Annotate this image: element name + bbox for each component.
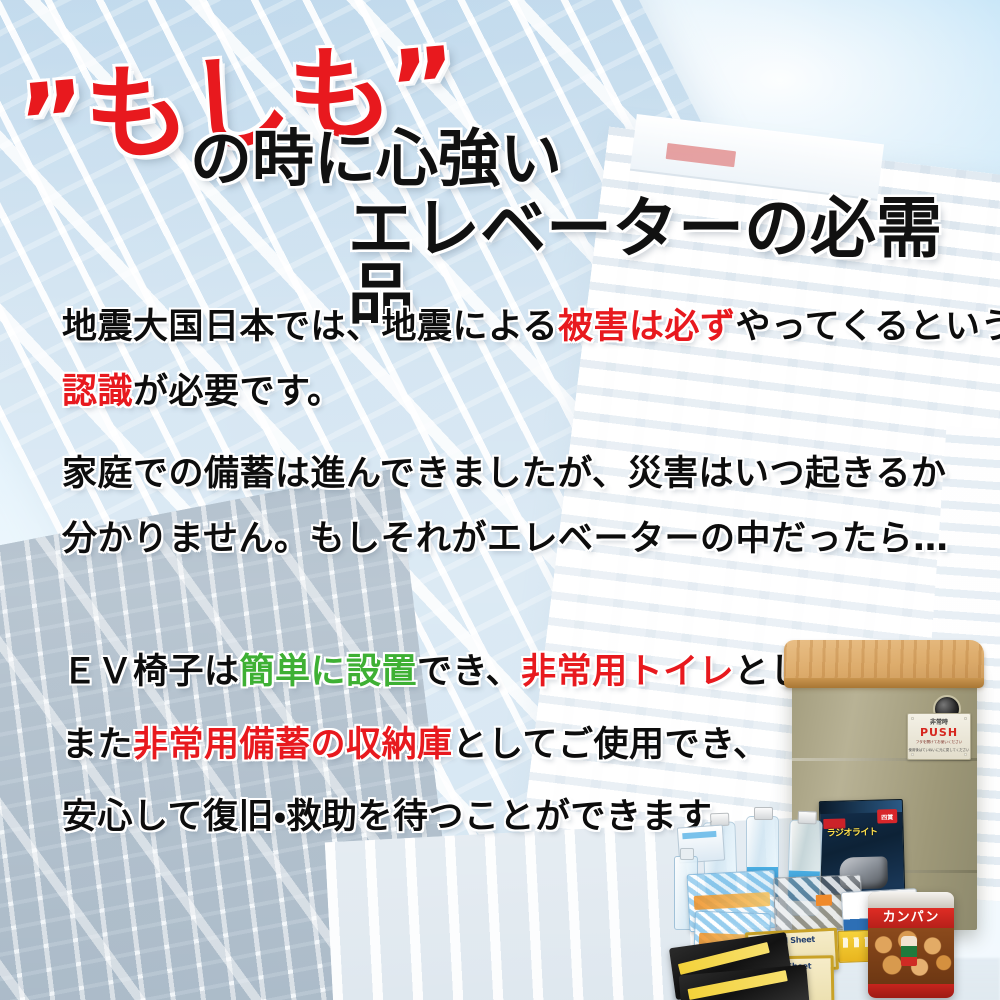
- body-paragraph-1-line-2: 認識が必要です。: [62, 375, 343, 410]
- product-photo-ev-chair-with-supplies: 非常時 PUSH フタを開けてお使いください 使用後はていねいに元に戻してくださ…: [672, 640, 1000, 1000]
- body-paragraph-3-line-3: 安心して復旧・救助を待つことができます。: [62, 800, 744, 835]
- can-label-text: カンパン: [868, 908, 954, 928]
- body-text-segment: ＥＶ椅子は: [62, 652, 240, 692]
- pack-label-bar: [694, 892, 770, 910]
- push-plate-heading: 非常時: [908, 717, 970, 726]
- plate-screw-icon: [911, 717, 914, 720]
- package-award-badge: 四賞: [877, 809, 897, 824]
- can-bottom-band: [868, 984, 954, 998]
- bag-yellow-label: [687, 970, 787, 1000]
- body-text-segment: が必要です。: [133, 372, 343, 412]
- push-plate-bodytext: 使用後はていねいに元に戻してください: [908, 748, 970, 753]
- plate-screw-icon: [911, 753, 914, 756]
- body-text-segment: やってくるという: [735, 307, 1000, 347]
- cabinet-seat-edge: [784, 678, 984, 688]
- emergency-push-label-plate: 非常時 PUSH フタを開けてお使いください 使用後はていねいに元に戻してくださ…: [907, 713, 971, 760]
- body-text-segment: 地震大国日本では、地震による: [62, 307, 558, 347]
- push-plate-push-word: PUSH: [908, 727, 970, 738]
- body-text-segment: でき、: [417, 652, 521, 692]
- can-lid: [868, 892, 954, 909]
- body-paragraph-2-line-2: 分かりません。もしそれがエレベーターの中だったら…: [62, 522, 948, 557]
- highlight-green-kantan-ni-setchi: 簡単に設置: [240, 652, 418, 692]
- body-paragraph-3-line-2: また非常用備蓄の収納庫としてご使用でき、: [62, 728, 769, 763]
- body-text-segment: また: [62, 725, 133, 765]
- push-plate-subtext: フタを開けてお使いください: [908, 740, 970, 745]
- plate-screw-icon: [964, 717, 967, 720]
- can-label-band: カンパン: [868, 908, 954, 928]
- highlight-red-ninshiki: 認識: [62, 372, 133, 412]
- can-mascot-icon: [901, 936, 917, 966]
- plate-screw-icon: [964, 753, 967, 756]
- poster-root: ”もしも” の時に心強い エレベーターの必需品 地震大国日本では、地震による被害…: [0, 0, 1000, 1000]
- pack-stripe: [682, 831, 716, 839]
- body-paragraph-1-line-1: 地震大国日本では、地震による被害は必ずやってくるという: [62, 310, 1000, 345]
- pack-orange-tag: [816, 894, 832, 906]
- body-paragraph-2-line-1: 家庭での備蓄は進んできましたが、災害はいつ起きるか: [62, 457, 946, 492]
- kanpan-hardtack-can: カンパン: [868, 892, 954, 998]
- package-title: ラジオライト: [826, 825, 877, 839]
- highlight-red-hijouyou-bichiku-shuunouko: 非常用備蓄の収納庫: [133, 725, 453, 765]
- headline-line-2: の時に心強い: [190, 128, 562, 190]
- highlight-red-higai: 被害は必ず: [558, 307, 736, 347]
